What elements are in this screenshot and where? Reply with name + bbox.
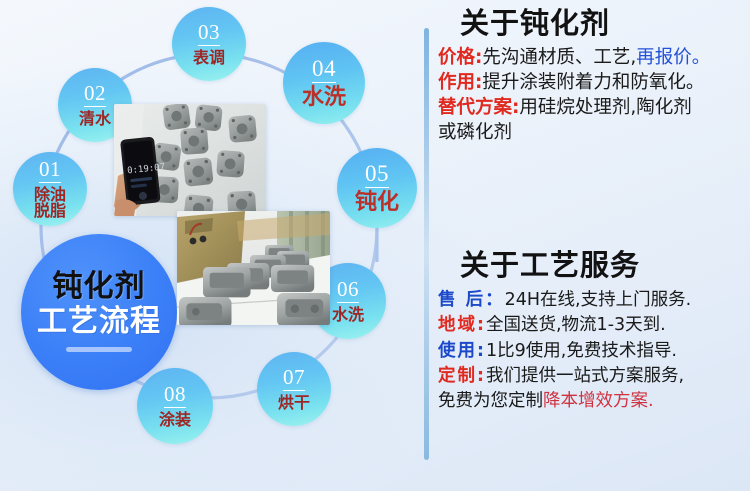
- vertical-accent-bar: [424, 28, 429, 460]
- row-value: 全国送货,物流1-3天到.: [486, 315, 666, 335]
- step-label: 钝化: [355, 192, 399, 214]
- hub-underline: [66, 347, 132, 352]
- panel-a-row: 替代方案:用硅烷处理剂,陶化剂: [438, 96, 750, 121]
- step-number: 06: [337, 279, 359, 303]
- panel-b-heading: 关于工艺服务: [438, 248, 750, 282]
- panel-a-row: 作用:提升涂装附着力和防氧化。: [438, 71, 750, 96]
- hub-title-bottom: 工艺流程: [37, 307, 161, 337]
- row-value: 24H在线,支持上门服务.: [505, 290, 692, 310]
- row-key: 替代方案:: [438, 97, 519, 118]
- flow-hub[interactable]: 钝化剂 工艺流程: [21, 234, 177, 390]
- step-08-coating[interactable]: 08 涂装: [137, 368, 213, 444]
- row-key: 使用:: [438, 341, 486, 361]
- infographic-page: 01 除油脱脂 02 清水 03 表调 04 水洗 05: [0, 0, 750, 491]
- row-value: 免费为您定制: [438, 391, 543, 411]
- hub-title-top: 钝化剂: [53, 272, 146, 302]
- row-key: 定制:: [438, 366, 486, 386]
- step-number: 02: [84, 83, 106, 107]
- step-label: 水洗: [332, 307, 364, 323]
- process-flow-diagram: 01 除油脱脂 02 清水 03 表调 04 水洗 05: [0, 0, 420, 491]
- row-value: 1比9使用,免费技术指导.: [486, 341, 677, 361]
- row-value: 我们提供一站式方案服务,: [486, 366, 684, 386]
- row-key: 价格:: [438, 47, 482, 68]
- step-05-passivation[interactable]: 05 钝化: [337, 148, 417, 228]
- step-number: 04: [312, 57, 336, 83]
- row-value: 提升涂装附着力和防氧化。: [482, 72, 704, 93]
- row-value: 用硅烷处理剂,陶化剂: [519, 97, 691, 118]
- row-value-tail: 再报价。: [636, 47, 710, 68]
- step-number: 01: [39, 159, 61, 183]
- step-number: 07: [283, 367, 305, 391]
- step-04-water-wash[interactable]: 04 水洗: [283, 42, 365, 124]
- step-number: 05: [365, 162, 389, 188]
- step-07-drying[interactable]: 07 烘干: [257, 352, 331, 426]
- panel-b-row: 地域:全国送货,物流1-3天到.: [438, 313, 750, 338]
- step-label: 除油脱脂: [34, 187, 66, 220]
- row-key: 售 后：: [438, 290, 505, 310]
- step-01-degreasing[interactable]: 01 除油脱脂: [13, 152, 87, 226]
- row-value: 或磷化剂: [438, 122, 512, 143]
- step-label: 烘干: [278, 395, 310, 411]
- panel-a-row: 或磷化剂: [438, 121, 750, 146]
- panel-b-row: 使用:1比9使用,免费技术指导.: [438, 339, 750, 364]
- photo-parts-line: [177, 211, 330, 325]
- step-number: 03: [198, 22, 220, 46]
- panel-about-service: 关于工艺服务 售 后：24H在线,支持上门服务. 地域:全国送货,物流1-3天到…: [438, 248, 750, 414]
- panel-about-passivator: 关于钝化剂 价格:先沟通材质、工艺,再报价。 作用:提升涂装附着力和防氧化。 替…: [438, 6, 750, 145]
- step-03-surface-conditioning[interactable]: 03 表调: [172, 7, 246, 81]
- photo-parts-tray: 0:19:07: [114, 104, 266, 216]
- row-value-tail: 降本增效方案.: [543, 391, 654, 411]
- step-number: 08: [164, 384, 186, 408]
- step-label: 表调: [193, 50, 225, 66]
- panel-b-row: 定制:我们提供一站式方案服务,: [438, 364, 750, 389]
- step-label: 涂装: [159, 412, 191, 428]
- panel-b-row: 免费为您定制降本增效方案.: [438, 389, 750, 414]
- row-value: 先沟通材质、工艺,: [482, 47, 636, 68]
- panel-a-heading: 关于钝化剂: [438, 6, 750, 40]
- row-key: 作用:: [438, 72, 482, 93]
- panel-a-row: 价格:先沟通材质、工艺,再报价。: [438, 46, 750, 71]
- info-panels: 关于钝化剂 价格:先沟通材质、工艺,再报价。 作用:提升涂装附着力和防氧化。 替…: [420, 0, 750, 491]
- step-label: 水洗: [302, 87, 346, 109]
- row-key: 地域:: [438, 315, 486, 335]
- panel-b-row: 售 后：24H在线,支持上门服务.: [438, 288, 750, 313]
- step-label: 清水: [79, 111, 111, 127]
